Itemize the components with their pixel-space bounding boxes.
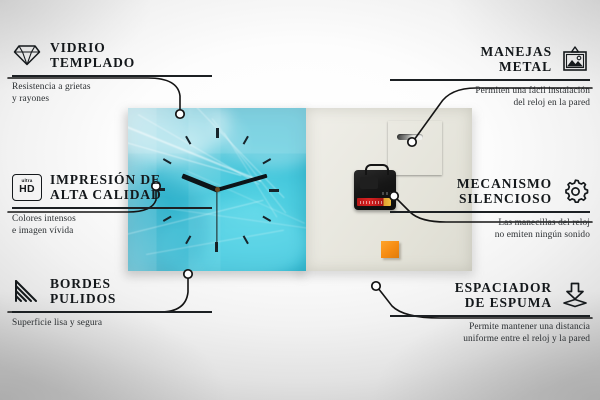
feature-title-line1: MECANISMO <box>390 176 552 191</box>
feature-title-line1: BORDES <box>50 276 212 291</box>
feature-desc-line1: Permiten una fácil instalación <box>390 85 590 97</box>
feature-title-line1: VIDRIO <box>50 40 212 55</box>
clock-center-pin <box>215 187 220 192</box>
gear-icon <box>560 176 590 206</box>
feature-title-line2: SILENCIOSO <box>390 191 552 206</box>
feature-title-line1: MANEJAS <box>390 44 552 59</box>
feature-title-line2: DE ESPUMA <box>390 295 552 310</box>
infographic-canvas: VIDRIO TEMPLADO Resistencia a grietas y … <box>0 0 600 400</box>
ultra-hd-icon: ultra HD <box>12 172 42 202</box>
feature-title-line2: PULIDOS <box>50 291 212 306</box>
feature-desc-line2: no emiten ningún sonido <box>390 229 590 241</box>
feature-title-line2: ALTA CALIDAD <box>50 187 212 202</box>
feature-mecanismo-silencioso[interactable]: MECANISMO SILENCIOSO Las manecillas del … <box>390 174 590 241</box>
feature-vidrio-templado[interactable]: VIDRIO TEMPLADO Resistencia a grietas y … <box>12 38 212 105</box>
feature-desc-line1: Superficie lisa y segura <box>12 317 212 329</box>
feature-desc-line2: y rayones <box>12 93 212 105</box>
diamond-icon <box>12 40 42 70</box>
metal-hanger-plate <box>388 121 442 175</box>
feature-desc-line1: Permite mantener una distancia <box>390 321 590 333</box>
framed-picture-icon <box>560 44 590 74</box>
feature-desc-line1: Resistencia a grietas <box>12 81 212 93</box>
feature-impresion-alta-calidad[interactable]: ultra HD IMPRESIÓN DE ALTA CALIDAD Color… <box>12 170 212 237</box>
feature-title-line2: METAL <box>390 59 552 74</box>
feature-desc-line2: e imagen vívida <box>12 225 212 237</box>
feature-divider <box>390 315 590 317</box>
feature-bordes-pulidos[interactable]: BORDES PULIDOS Superficie lisa y segura <box>12 274 212 329</box>
polished-edges-icon <box>12 276 42 306</box>
feature-desc-line2: uniforme entre el reloj y la pared <box>390 333 590 345</box>
ultra-hd-icon-main-text: HD <box>19 184 35 195</box>
foam-spacer-part <box>381 241 399 258</box>
feature-divider <box>12 311 212 313</box>
feature-title-line1: IMPRESIÓN DE <box>50 172 212 187</box>
feature-divider <box>390 79 590 81</box>
feature-title-line2: TEMPLADO <box>50 55 212 70</box>
foam-spacer-icon <box>560 280 590 310</box>
feature-divider <box>12 75 212 77</box>
feature-title-line1: ESPACIADOR <box>390 280 552 295</box>
feature-desc-line2: del reloj en la pared <box>390 97 590 109</box>
feature-desc-line1: Las manecillas del reloj <box>390 217 590 229</box>
connector-dot-espaciador <box>372 282 380 290</box>
feature-divider <box>390 211 590 213</box>
feature-divider <box>12 207 212 209</box>
feature-espaciador-de-espuma[interactable]: ESPACIADOR DE ESPUMA Permite mantener un… <box>390 278 590 345</box>
feature-manejas-metal[interactable]: MANEJAS METAL Permiten una fácil instala… <box>390 42 590 109</box>
feature-desc-line1: Colores intensos <box>12 213 212 225</box>
